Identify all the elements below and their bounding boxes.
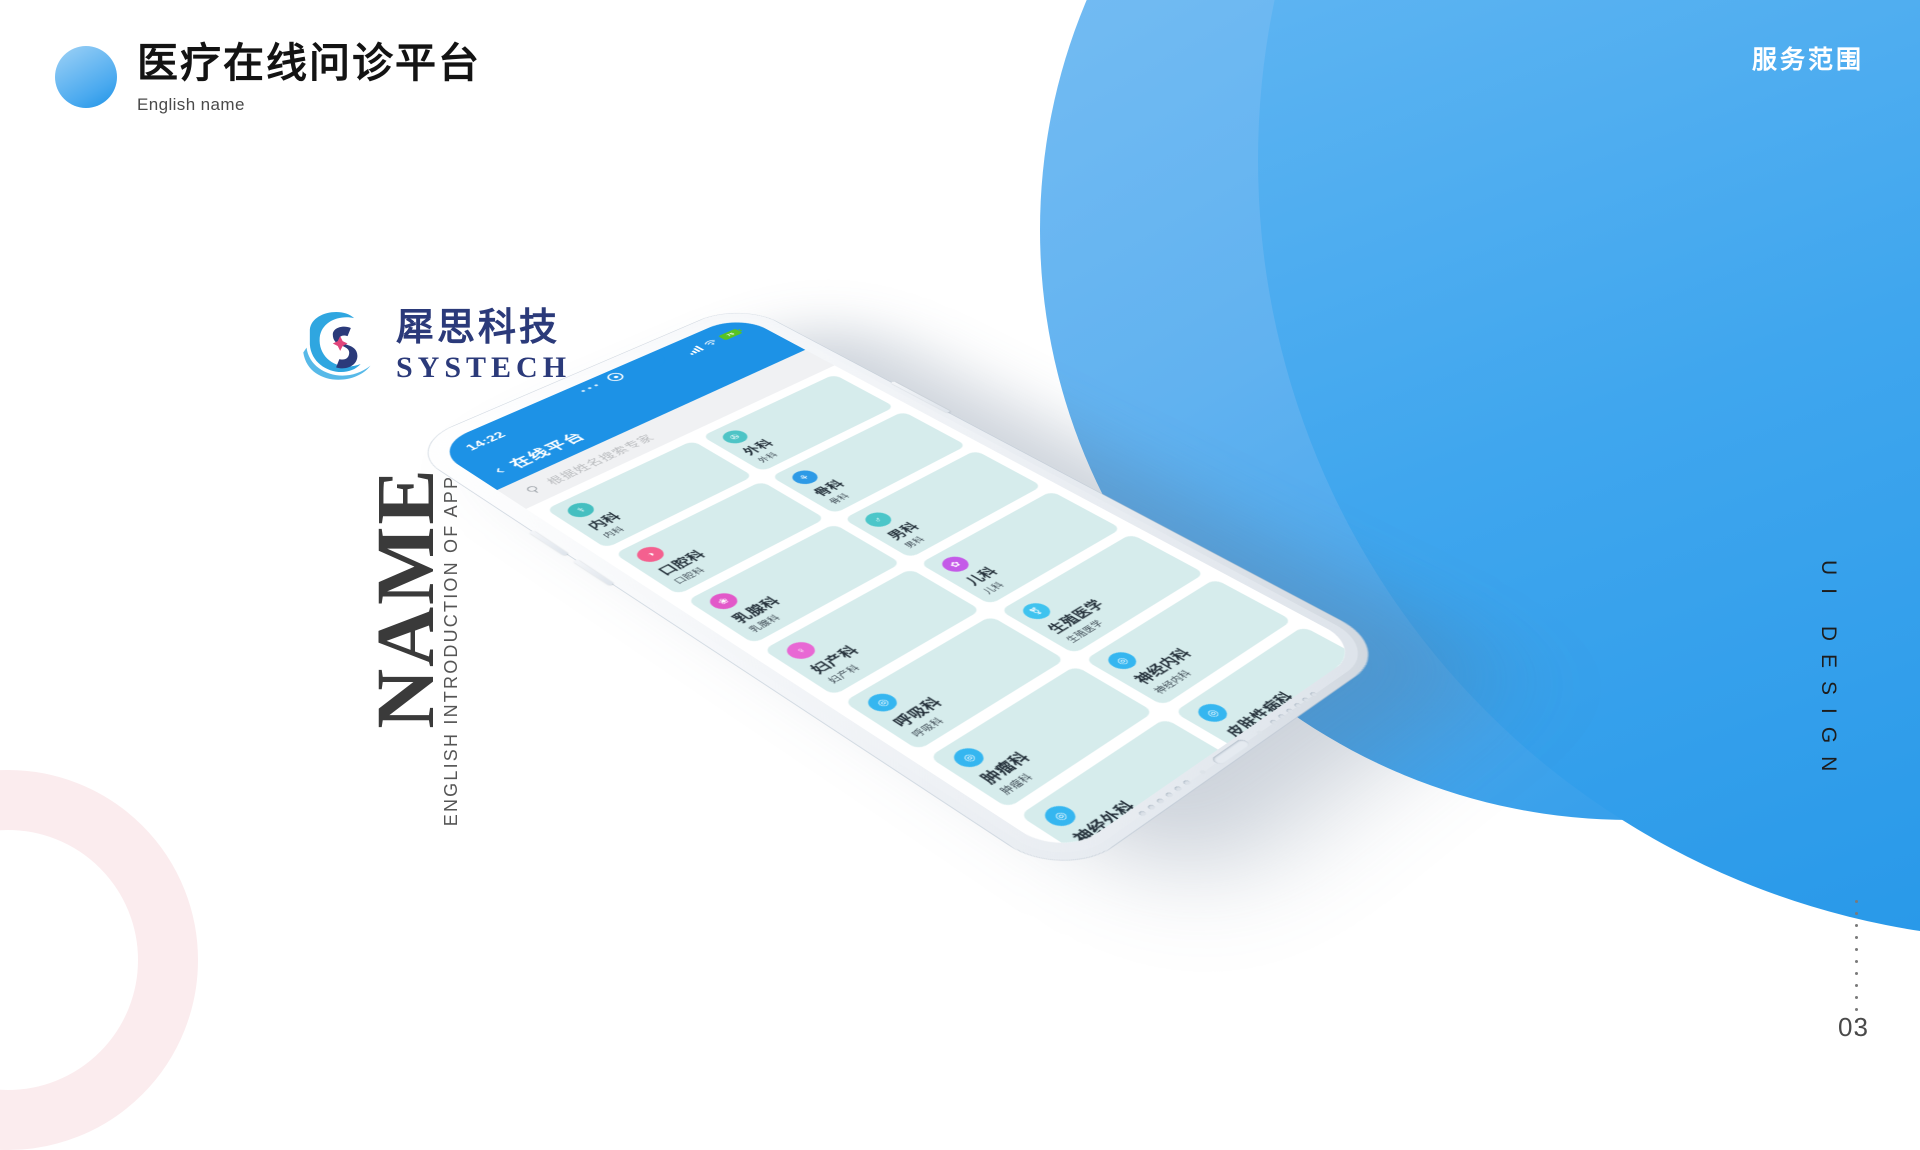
wifi-icon [702,338,720,347]
status-time: 14:22 [463,430,510,453]
department-tile[interactable]: ♀妇产科妇产科 [763,569,980,696]
department-subtitle: 妇产科 [825,604,966,685]
systech-swoosh-icon [300,305,382,387]
ui-design-vertical-label: UI DESIGN [1816,560,1840,784]
department-title: 乳腺科 [726,546,872,626]
department-title: 肿瘤科 [973,692,1121,787]
brand-header: 医疗在线问诊平台 English name [55,42,481,115]
department-icon: ♀ [781,639,820,662]
department-tile[interactable]: ◎神经内科神经内科 [1084,579,1292,706]
battery-icon: 75 [718,329,743,341]
service-scope-label: 服务范围 [1752,40,1864,76]
department-subtitle: 肿瘤科 [997,705,1138,797]
name-subtitle: ENGLISH INTRODUCTION OF APP [441,475,462,826]
department-tile[interactable]: ◎肿瘤科肿瘤科 [929,666,1154,808]
background-pink-ring [0,770,198,1150]
department-title: 神经内科 [1127,602,1261,687]
page-title: 医疗在线问诊平台 [137,42,481,85]
department-icon: ◎ [1039,802,1082,830]
department-title: 神经外科 [1066,746,1215,847]
brand-dot-icon [55,46,117,108]
systech-logo: 犀思科技 SYSTECH [300,305,571,387]
notch-sensor-dots [581,384,599,392]
department-tile[interactable]: ⚧生殖医学生殖医学 [1000,534,1205,654]
page-subtitle: English name [137,95,481,115]
front-camera-icon [604,371,627,383]
department-tile[interactable]: ◎呼吸科呼吸科 [844,616,1065,750]
department-title: 呼吸科 [886,641,1034,731]
name-word: NAME [357,467,453,729]
search-icon [522,483,546,496]
brand-text-group: 医疗在线问诊平台 English name [137,42,481,115]
page-number: 03 [1838,1012,1869,1043]
systech-chinese-name: 犀思科技 [396,309,571,347]
cellular-signal-icon [684,345,704,355]
department-tile[interactable]: ◎神经外科神经外科 [1019,719,1247,858]
department-icon: ◎ [948,745,989,771]
systech-english-name: SYSTECH [396,353,571,383]
department-title: 儿科 [959,512,1093,588]
back-arrow-icon[interactable]: ‹ [489,465,509,477]
systech-wordmark: 犀思科技 SYSTECH [396,309,571,383]
department-subtitle: 呼吸科 [908,653,1049,739]
department-icon: ◑ [632,544,669,565]
department-title: 生殖医学 [1041,556,1175,636]
